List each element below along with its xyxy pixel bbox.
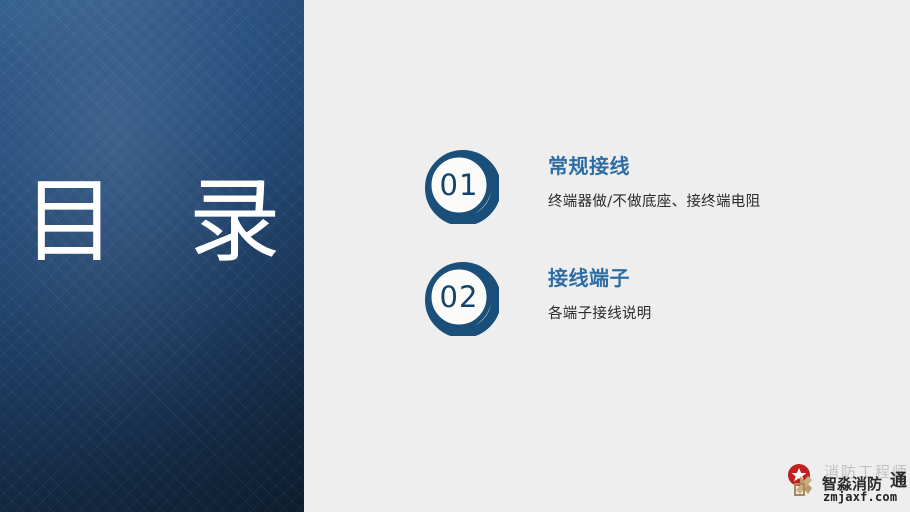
toc-entry-heading: 接线端子 [548, 266, 652, 291]
watermark-url: zmjaxf.com [823, 490, 897, 504]
toc-entry-text-02: 接线端子 各端子接线说明 [548, 262, 652, 324]
toc-entry-subtitle: 各端子接线说明 [548, 305, 652, 324]
number-badge-01: 01 [425, 150, 499, 224]
watermark: 消防工程师 通 智淼消防 zmjaxf.com [786, 460, 904, 506]
toc-entry-01[interactable]: 01 常规接线 终端器做/不做底座、接终端电阻 [425, 150, 760, 224]
toc-content-area: 01 常规接线 终端器做/不做底座、接终端电阻 02 接线端子 各端子接线说明 [304, 0, 910, 512]
toc-entry-heading: 常规接线 [548, 154, 760, 179]
number-badge-02: 02 [425, 262, 499, 336]
page-title: 目 录 [0, 176, 304, 268]
toc-entry-text-01: 常规接线 终端器做/不做底座、接终端电阻 [548, 150, 760, 212]
brand-emblem-icon [786, 462, 826, 502]
toc-entry-02[interactable]: 02 接线端子 各端子接线说明 [425, 262, 652, 336]
toc-entry-subtitle: 终端器做/不做底座、接终端电阻 [548, 193, 760, 212]
badge-number-label: 01 [425, 150, 493, 220]
watermark-suffix: 通 [890, 466, 907, 491]
slide-root: 目 录 01 常规接线 终端器做/不做底座、接终端电阻 [0, 0, 910, 512]
left-title-panel: 目 录 [0, 0, 304, 512]
watermark-text-group: 消防工程师 通 智淼消防 zmjaxf.com [822, 460, 908, 506]
badge-number-label: 02 [425, 262, 493, 332]
